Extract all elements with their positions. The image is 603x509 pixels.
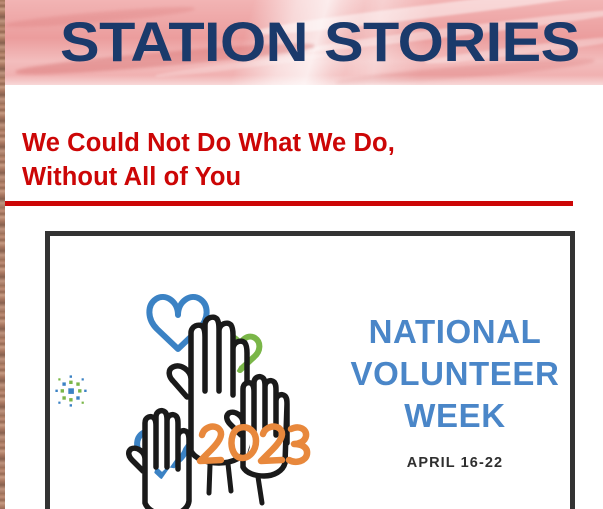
masthead-banner: STATION STORIES (5, 0, 603, 85)
graphic-heading-line-2: VOLUNTEER (330, 353, 580, 395)
graphic-heading-line-1: NATIONAL (330, 311, 580, 353)
hand-left (129, 411, 189, 509)
section-divider (5, 201, 573, 206)
graphic-date-range: APRIL 16-22 (330, 455, 580, 471)
wrist-stroke (228, 464, 231, 491)
graphic-text-block: NATIONAL VOLUNTEER WEEK APRIL 16-22 (330, 311, 580, 471)
wrist-stroke (258, 477, 262, 503)
starburst-icon (54, 374, 88, 408)
graphic-heading-line-3: WEEK (330, 395, 580, 437)
content-column: STATION STORIES We Could Not Do What We … (5, 0, 603, 509)
raised-hands-illustration (115, 271, 325, 509)
page-background-edge (0, 0, 5, 509)
wrist-stroke (209, 465, 210, 493)
national-volunteer-week-graphic: NATIONAL VOLUNTEER WEEK APRIL 16-22 (40, 226, 588, 509)
masthead-title: STATION STORIES (60, 3, 603, 81)
graphic-frame-border: NATIONAL VOLUNTEER WEEK APRIL 16-22 (45, 231, 575, 509)
story-headline: We Could Not Do What We Do, Without All … (22, 126, 492, 194)
